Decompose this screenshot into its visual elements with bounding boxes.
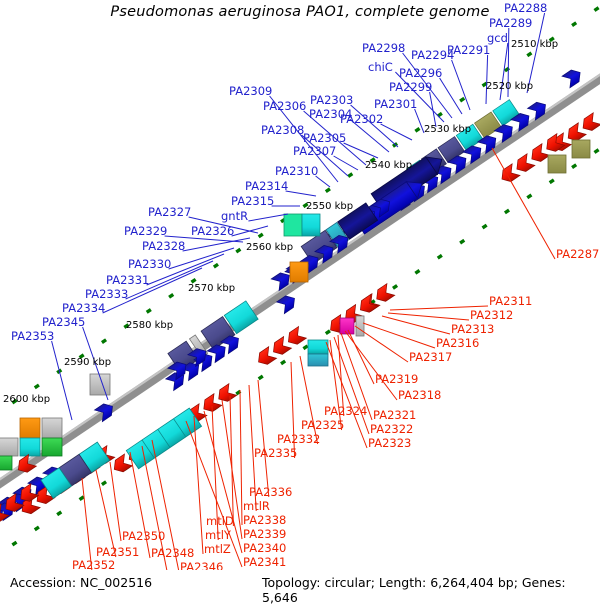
gene-label[interactable]: PA2329 — [124, 226, 167, 238]
gene-label[interactable]: PA2311 — [489, 296, 532, 308]
gene-label[interactable]: PA2327 — [148, 207, 191, 219]
gene-label[interactable]: PA2335 — [254, 448, 297, 460]
gene-label[interactable]: PA2303 — [310, 95, 353, 107]
status-bar: Accession: NC_002516 Topology: circular;… — [0, 570, 600, 600]
gene-label[interactable]: PA2309 — [229, 86, 272, 98]
gene-label[interactable]: PA2321 — [373, 410, 416, 422]
gene-label[interactable]: PA2299 — [389, 82, 432, 94]
gene-label[interactable]: PA2328 — [142, 241, 185, 253]
gene-label[interactable]: mtlY — [205, 530, 231, 542]
gene-label[interactable]: PA2331 — [106, 275, 149, 287]
gene-label[interactable]: mtlR — [243, 501, 270, 513]
accession-text: Accession: NC_002516 — [10, 575, 152, 590]
ruler-tick-label: 2570 kbp — [188, 283, 235, 295]
ruler-tick-label: 2590 kbp — [64, 357, 111, 369]
ruler-tick-label: 2540 kbp — [365, 160, 412, 172]
gene-label[interactable]: PA2298 — [362, 43, 405, 55]
gene-label[interactable]: PA2306 — [263, 101, 306, 113]
gene-label[interactable]: PA2316 — [436, 338, 479, 350]
gene-label[interactable]: PA2315 — [231, 196, 274, 208]
ruler-tick-label: 2530 kbp — [424, 124, 471, 136]
gene-label[interactable]: chiC — [368, 62, 393, 74]
gene-label[interactable]: PA2338 — [243, 515, 286, 527]
gene-label[interactable]: mtlZ — [204, 544, 231, 556]
gene-label[interactable]: mtlD — [206, 516, 234, 528]
gene-label[interactable]: PA2333 — [85, 289, 128, 301]
gene-label[interactable]: PA2314 — [245, 181, 288, 193]
gene-label[interactable]: PA2308 — [261, 125, 304, 137]
gene-label[interactable]: PA2301 — [374, 99, 417, 111]
gene-label[interactable]: PA2310 — [275, 166, 318, 178]
ruler-tick-label: 2560 kbp — [246, 242, 293, 254]
genome-map-viewer: Pseudomonas aeruginosa PAO1, complete ge… — [0, 0, 600, 600]
gene-label[interactable]: PA2307 — [293, 146, 336, 158]
gene-label[interactable]: PA2323 — [368, 438, 411, 450]
gene-label[interactable]: gcd — [487, 33, 508, 45]
gene-label[interactable]: PA2319 — [375, 374, 418, 386]
gene-label[interactable]: PA2313 — [451, 324, 494, 336]
gene-label[interactable]: PA2340 — [243, 543, 286, 555]
gene-label[interactable]: PA2312 — [470, 310, 513, 322]
gene-label[interactable]: gntR — [221, 211, 248, 223]
gene-label[interactable]: PA2336 — [249, 487, 292, 499]
gene-label[interactable]: PA2350 — [122, 531, 165, 543]
gene-label[interactable]: PA2304 — [309, 109, 352, 121]
gene-label[interactable]: PA2294 — [411, 50, 454, 62]
gene-label[interactable]: PA2305 — [303, 133, 346, 145]
ruler-tick-label: 2510 kbp — [511, 39, 558, 51]
gene-label[interactable]: PA2332 — [277, 434, 320, 446]
gene-label[interactable]: PA2353 — [11, 331, 54, 343]
genome-summary-text: Topology: circular; Length: 6,264,404 bp… — [262, 575, 600, 605]
gene-label[interactable]: PA2288 — [504, 3, 547, 15]
gene-label[interactable]: PA2351 — [96, 547, 139, 559]
gene-label[interactable]: PA2287 — [556, 249, 599, 261]
gene-label[interactable]: PA2325 — [301, 420, 344, 432]
gene-label[interactable]: PA2322 — [370, 424, 413, 436]
gene-label[interactable]: PA2330 — [128, 259, 171, 271]
ruler-tick-label: 2600 kbp — [3, 394, 50, 406]
ruler-tick-label: 2550 kbp — [306, 201, 353, 213]
gene-label[interactable]: PA2326 — [191, 226, 234, 238]
gene-label[interactable]: PA2348 — [151, 548, 194, 560]
gene-label[interactable]: PA2289 — [489, 18, 532, 30]
ruler-tick-label: 2580 kbp — [126, 320, 173, 332]
gene-label[interactable]: PA2345 — [42, 317, 85, 329]
gene-label[interactable]: PA2317 — [409, 352, 452, 364]
gene-label[interactable]: PA2318 — [398, 390, 441, 402]
gene-label[interactable]: PA2341 — [243, 557, 286, 569]
gene-label[interactable]: PA2296 — [399, 68, 442, 80]
ruler-tick-label: 2520 kbp — [486, 81, 533, 93]
gene-label[interactable]: PA2324 — [324, 406, 367, 418]
gene-label[interactable]: PA2339 — [243, 529, 286, 541]
gene-label[interactable]: PA2334 — [62, 303, 105, 315]
